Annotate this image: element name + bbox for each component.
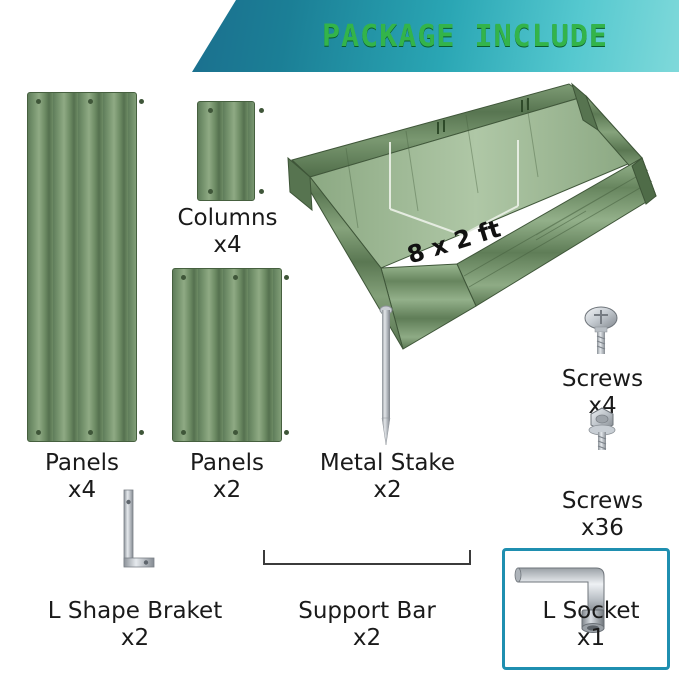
l-shape-braket-name: L Shape Braket [48,598,222,624]
rivet [208,108,213,113]
rivet [139,430,144,435]
l-bracket-svg [110,488,160,578]
columns-x4-illustration [197,101,255,201]
panels-x2-label: Panels x2 [157,450,297,504]
columns-x4-name: Columns [177,205,277,231]
support-bar-label: Support Bar x2 [258,598,476,652]
rivet-row-bottom [198,189,274,194]
rivet [36,99,41,104]
l-shape-braket-label: L Shape Braket x2 [20,598,250,652]
panels-x2-illustration [172,268,282,442]
page-title: PACKAGE INCLUDE [270,19,660,54]
rivet-row-bottom [28,430,152,435]
rivet-row-top [28,99,152,104]
metal-stake-label: Metal Stake x2 [300,450,475,504]
hex-head-screw-illustration [580,406,624,452]
rivet [233,430,238,435]
screws-x4-name: Screws [562,366,643,392]
support-bar-illustration [262,548,472,572]
l-shape-braket-qty: x2 [20,625,250,652]
round-head-screw-illustration [578,306,624,356]
rivet [88,99,93,104]
panels-x2-qty: x2 [157,477,297,504]
rivet-row-top [173,275,297,280]
package-include-diagram: PACKAGE INCLUDE Panels x4 Columns x4 [0,0,679,679]
rivet [259,189,264,194]
rivet-row-top [198,108,274,113]
panels-x4-name: Panels [45,450,119,476]
rivet [259,108,264,113]
columns-x4-qty: x4 [155,232,300,259]
hex-head-screw-svg [580,406,624,452]
rivet [181,275,186,280]
l-socket-label: L Socket x1 [512,598,670,652]
metal-stake-qty: x2 [300,477,475,504]
rivet [88,430,93,435]
panels-x2-name: Panels [190,450,264,476]
rivet-row-bottom [173,430,297,435]
screws-x36-name: Screws [562,488,643,514]
l-socket-name: L Socket [542,598,639,624]
l-bracket-illustration [110,488,160,578]
l-socket-qty: x1 [512,625,670,652]
panels-x4-illustration [27,92,137,442]
support-bar-name: Support Bar [298,598,436,624]
screws-x36-label: Screws x36 [530,488,675,542]
rivet [181,430,186,435]
rivet [284,430,289,435]
round-head-screw-svg [578,306,624,356]
columns-x4-label: Columns x4 [155,205,300,259]
screws-x36-qty: x36 [530,515,675,542]
metal-stake-svg [379,305,393,445]
rivet [208,189,213,194]
rivet [139,99,144,104]
rivet [233,275,238,280]
metal-stake-name: Metal Stake [320,450,455,476]
rivet [36,430,41,435]
metal-stake-illustration [379,305,393,445]
support-bar-qty: x2 [258,625,476,652]
support-bar-svg [262,548,472,572]
